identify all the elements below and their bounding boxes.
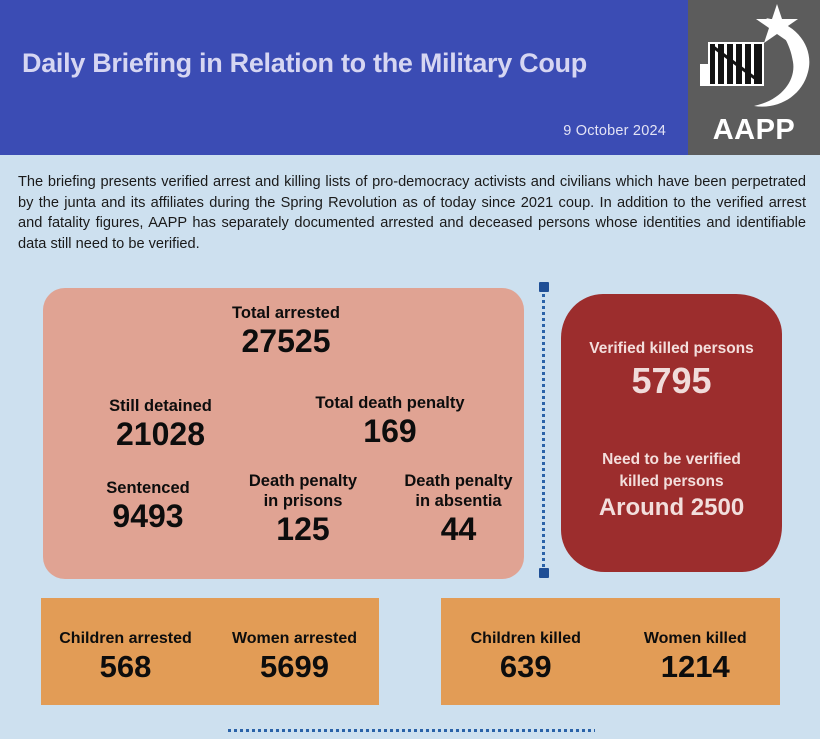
stat-death-penalty-in-absentia: Death penalty in absentia 44 [386, 471, 531, 547]
stat-label: Verified killed persons [561, 338, 782, 360]
stat-verified-killed-persons: Verified killed persons 5795 [561, 338, 782, 402]
stat-total-arrested: Total arrested 27525 [191, 303, 381, 359]
stat-sentenced: Sentenced 9493 [63, 478, 233, 534]
stat-women-killed: Women killed 1214 [611, 598, 781, 705]
stat-label-line2: killed persons [561, 471, 782, 493]
vertical-dotted-divider [542, 288, 545, 573]
logo-label: AAPP [688, 114, 820, 147]
stat-value: 27525 [191, 323, 381, 359]
stat-value: 125 [228, 511, 378, 547]
stat-label-line2: in absentia [386, 491, 531, 511]
stat-value: 21028 [73, 416, 248, 452]
stat-need-to-be-verified-killed-persons: Need to be verified killed persons Aroun… [561, 449, 782, 523]
intro-paragraph: The briefing presents verified arrest an… [18, 172, 806, 254]
stat-label: Sentenced [63, 478, 233, 498]
crescent-star-prison-icon [688, 2, 820, 120]
stat-label-line1: Death penalty [228, 471, 378, 491]
stat-women-arrested: Women arrested 5699 [210, 598, 379, 705]
stat-total-death-penalty: Total death penalty 169 [281, 393, 499, 449]
stat-label-line1: Need to be verified [561, 449, 782, 471]
stat-value: 169 [281, 413, 499, 449]
header-main: Daily Briefing in Relation to the Milita… [0, 0, 688, 155]
stat-label-line1: Death penalty [386, 471, 531, 491]
stat-value: 5795 [561, 360, 782, 402]
page-title: Daily Briefing in Relation to the Milita… [22, 48, 587, 79]
horizontal-dotted-divider [228, 729, 595, 732]
stat-value: 9493 [63, 498, 233, 534]
stat-value: 1214 [611, 649, 781, 685]
stat-value: 5699 [210, 649, 379, 685]
stat-value: 568 [41, 649, 210, 685]
stat-label: Total death penalty [281, 393, 499, 413]
divider-handle-top[interactable] [539, 282, 549, 292]
killed-statistics-panel: Verified killed persons 5795 Need to be … [561, 294, 782, 572]
stat-label: Women arrested [210, 629, 379, 649]
arrested-demographics-panel: Children arrested 568 Women arrested 569… [41, 598, 379, 705]
stat-label: Children arrested [41, 629, 210, 649]
stat-children-killed: Children killed 639 [441, 598, 611, 705]
stat-label: Children killed [441, 629, 611, 649]
stat-still-detained: Still detained 21028 [73, 396, 248, 452]
stat-value: 44 [386, 511, 531, 547]
stat-value: 639 [441, 649, 611, 685]
stat-value: Around 2500 [561, 493, 782, 523]
page-header: Daily Briefing in Relation to the Milita… [0, 0, 820, 155]
stat-label: Women killed [611, 629, 781, 649]
stat-label: Still detained [73, 396, 248, 416]
aapp-logo: AAPP [688, 0, 820, 155]
stat-children-arrested: Children arrested 568 [41, 598, 210, 705]
briefing-date: 9 October 2024 [563, 123, 666, 139]
divider-handle-bottom[interactable] [539, 568, 549, 578]
stat-death-penalty-in-prisons: Death penalty in prisons 125 [228, 471, 378, 547]
stat-label: Total arrested [191, 303, 381, 323]
stat-label-line2: in prisons [228, 491, 378, 511]
killed-demographics-panel: Children killed 639 Women killed 1214 [441, 598, 780, 705]
arrested-statistics-panel: Total arrested 27525 Still detained 2102… [43, 288, 524, 579]
